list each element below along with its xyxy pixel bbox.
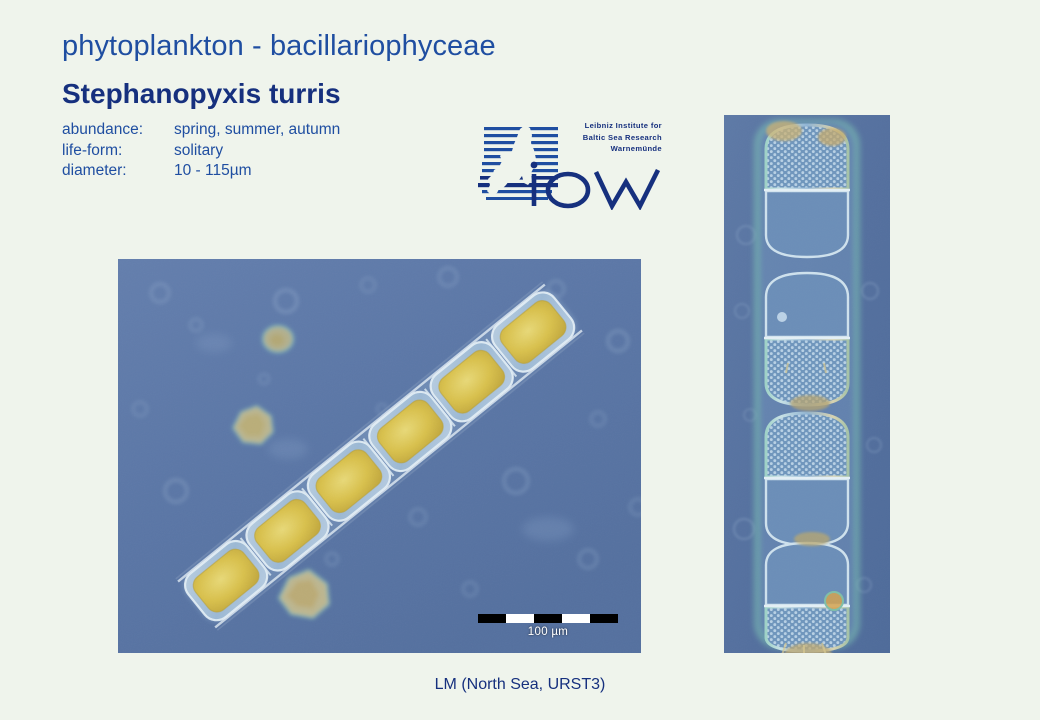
metadata-label-diameter: diameter: — [62, 161, 174, 182]
light-micrograph-chain: 100 µm — [118, 259, 641, 653]
metadata-value-diameter: 10 - 115µm — [174, 161, 252, 182]
scale-bar: 100 µm — [478, 614, 618, 638]
metadata-row-abundance: abundance: spring, summer, autumn — [62, 120, 340, 141]
metadata-row-diameter: diameter: 10 - 115µm — [62, 161, 340, 182]
detail-micrograph-image — [724, 115, 890, 653]
logo-institute-line-2: Baltic Sea Research — [556, 132, 662, 144]
scale-bar-ticks — [478, 614, 618, 623]
iow-wordmark-icon — [520, 152, 663, 210]
metadata-list: abundance: spring, summer, autumn life-f… — [62, 120, 340, 182]
species-name: Stephanopyxis turris — [62, 78, 341, 110]
iow-logo: Leibniz Institute for Baltic Sea Researc… — [478, 120, 663, 210]
slide-canvas: phytoplankton - bacillariophyceae Stepha… — [0, 0, 1040, 720]
metadata-label-life-form: life-form: — [62, 141, 174, 162]
logo-institute-line-1: Leibniz Institute for — [556, 120, 662, 132]
main-micrograph-image — [118, 259, 641, 653]
metadata-label-abundance: abundance: — [62, 120, 174, 141]
metadata-value-abundance: spring, summer, autumn — [174, 120, 340, 141]
metadata-row-life-form: life-form: solitary — [62, 141, 340, 162]
scale-bar-label: 100 µm — [478, 626, 618, 638]
iow-dot-icon — [531, 162, 538, 169]
metadata-value-life-form: solitary — [174, 141, 223, 162]
light-micrograph-detail — [724, 115, 890, 653]
figure-caption: LM (North Sea, URST3) — [0, 676, 1040, 694]
logo-institute-text: Leibniz Institute for Baltic Sea Researc… — [556, 120, 662, 155]
page-title: phytoplankton - bacillariophyceae — [62, 30, 496, 63]
